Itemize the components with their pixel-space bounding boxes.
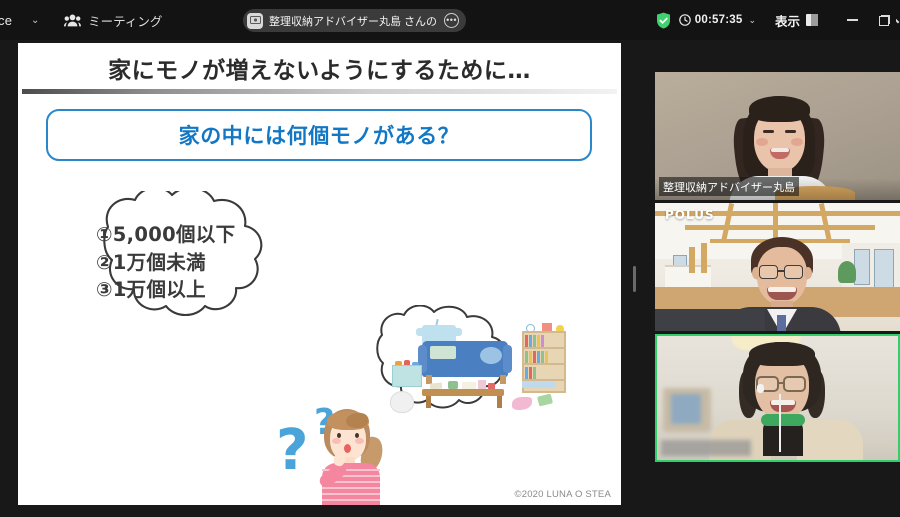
- participant-name-label: 整理収納アドバイザー丸島: [659, 177, 799, 196]
- table-icon: [422, 389, 504, 396]
- question-mark-icon: ?: [276, 423, 308, 479]
- people-icon: [64, 14, 81, 27]
- participant-tile[interactable]: 整理収納アドバイザー丸島: [655, 72, 900, 200]
- answer-option: ①5,000個以下: [96, 221, 336, 249]
- meeting-entry[interactable]: ミーティング: [64, 11, 162, 30]
- chevron-down-icon[interactable]: ⌄: [28, 15, 42, 26]
- messy-room-illustration: [370, 319, 586, 423]
- toybox-icon: [392, 365, 422, 387]
- meeting-label: ミーティング: [88, 11, 162, 30]
- question-text: 家の中には何個モノがある？: [179, 120, 460, 150]
- answers-thought-bubble: ①5,000個以下 ②1万個未満 ③1万個以上: [66, 191, 346, 361]
- minimize-button[interactable]: [836, 0, 868, 40]
- timer-value: 00:57:35: [695, 14, 743, 26]
- chevron-down-icon[interactable]: ⌄: [748, 15, 756, 26]
- thinking-girl-illustration: ? ?: [258, 393, 388, 505]
- shield-check-icon[interactable]: [656, 12, 671, 29]
- layout-icon: [806, 14, 818, 26]
- blurred-name-label: [661, 440, 751, 456]
- question-box: 家の中には何個モノがある？: [46, 109, 592, 161]
- bag-icon: [390, 391, 414, 413]
- slide-title: 家にモノが増えないようにするために…: [18, 51, 621, 85]
- shared-slide[interactable]: 家にモノが増えないようにするために… 家の中には何個モノがある？ ①5,000個…: [18, 43, 621, 505]
- share-status-pill[interactable]: 整理収納アドバイザー丸島 さんの •••: [243, 9, 466, 32]
- participant-tile-active-speaker[interactable]: [655, 334, 900, 462]
- titlebar-right: 00:57:35 ⌄ 表示: [656, 0, 900, 40]
- participant-rail: 整理収納アドバイザー丸島: [655, 72, 900, 502]
- answer-option: ③1万個以上: [96, 276, 336, 304]
- screen-share-icon: [247, 13, 263, 29]
- app-name: ce: [0, 13, 12, 28]
- participant-tile[interactable]: POLUS: [655, 203, 900, 331]
- display-label: 表示: [775, 11, 800, 30]
- title-divider: [22, 89, 617, 94]
- window-controls: [836, 0, 900, 40]
- copyright-notice: ©2020 LUNA O STEA: [515, 489, 611, 500]
- meeting-timer[interactable]: 00:57:35 ⌄: [679, 14, 756, 26]
- share-pill-label: 整理収納アドバイザー丸島 さんの: [269, 13, 437, 29]
- close-button[interactable]: [896, 0, 900, 40]
- meeting-window: ce ⌄ ミーティング: [0, 0, 900, 517]
- virtual-background-logo: POLUS: [665, 208, 715, 222]
- display-layout-button[interactable]: 表示: [775, 11, 818, 30]
- clock-icon: [679, 14, 691, 26]
- meeting-stage: 家にモノが増えないようにするために… 家の中には何個モノがある？ ①5,000個…: [0, 40, 900, 517]
- more-options-icon[interactable]: •••: [444, 13, 459, 28]
- answer-option: ②1万個未満: [96, 249, 336, 277]
- titlebar-left: ce ⌄ ミーティング: [0, 0, 162, 40]
- titlebar: ce ⌄ ミーティング: [0, 0, 900, 40]
- answer-options: ①5,000個以下 ②1万個未満 ③1万個以上: [96, 221, 336, 304]
- panel-resize-handle[interactable]: [629, 40, 639, 517]
